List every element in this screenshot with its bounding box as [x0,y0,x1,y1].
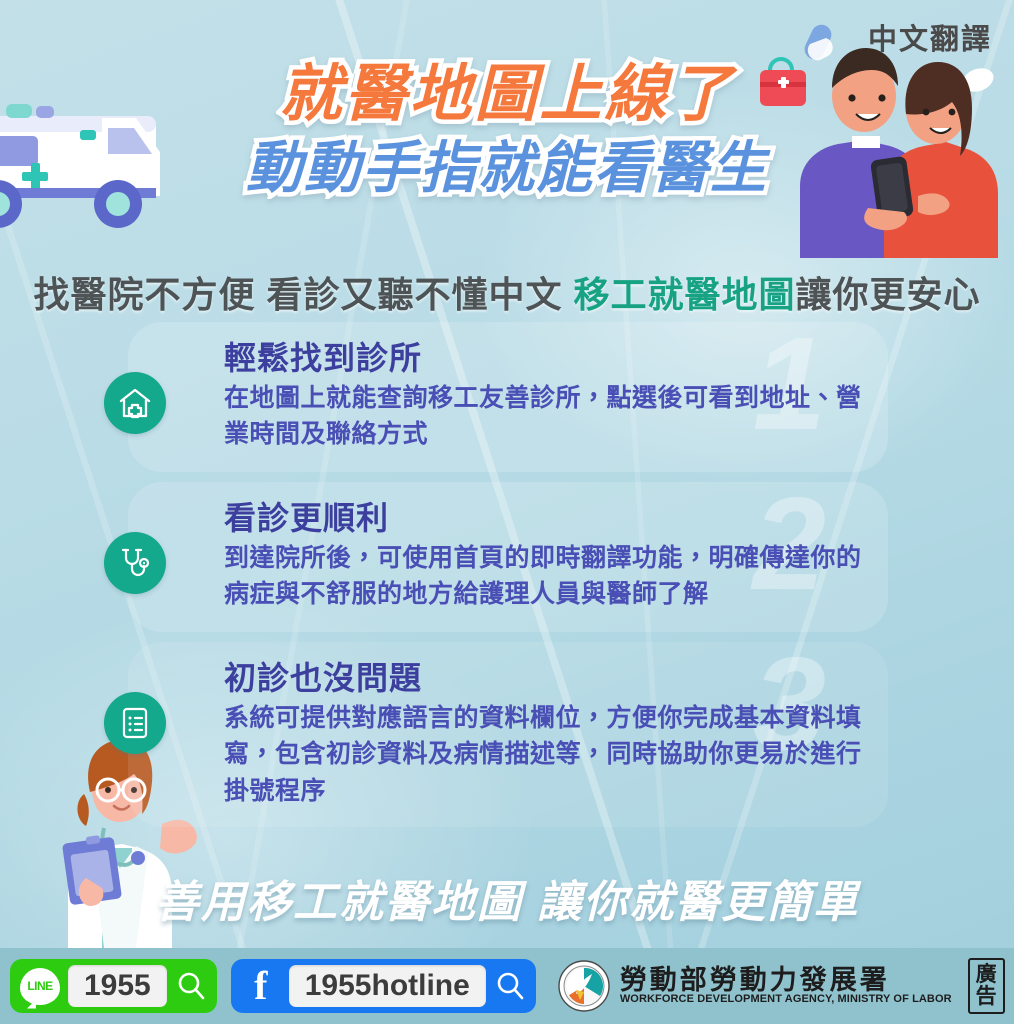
ad-badge: 廣告 [968,958,1005,1014]
page-title-line1: 就醫地圖上線了 [0,62,1014,127]
line-contact-chip[interactable]: LINE 1955 [10,959,217,1013]
agency-name-block: 勞動部勞動力發展署 WORKFORCE DEVELOPMENT AGENCY, … [620,966,952,1006]
line-id-field[interactable]: 1955 [68,965,167,1007]
page-title-line2: 動動手指就能看醫生 [0,139,1014,198]
feature-body: 系統可提供對應語言的資料欄位，方便你完成基本資料填寫，包含初診資料及病情描述等，… [224,700,864,809]
poster-root: 中文翻譯 就醫地圖上線了 動動手指就能看醫生 找醫院不方便 看診又聽不懂中文 移… [0,0,1014,1024]
facebook-contact-chip[interactable]: f 1955hotline [231,959,536,1013]
hero-section: 就醫地圖上線了 動動手指就能看醫生 [0,62,1014,198]
feature-title: 初診也沒問題 [224,658,864,698]
footer-bar: LINE 1955 f 1955hotline [0,948,1014,1024]
language-badge: 中文翻譯 [868,16,992,58]
agency-branding: 勞動部勞動力發展署 WORKFORCE DEVELOPMENT AGENCY, … [558,958,1005,1014]
feature-card-list: 1 輕鬆找到診所 在地圖上就能查詢移工友善診所，點選後可看到地址、營業時間及聯絡… [128,322,888,837]
agency-seal-icon [558,960,610,1012]
subtitle-part2: 讓你更安心 [796,274,981,315]
facebook-logo-label: f [254,967,267,1005]
feature-body: 在地圖上就能查詢移工友善診所，點選後可看到地址、營業時間及聯絡方式 [224,380,864,453]
capsule-pill [801,21,834,62]
subtitle-accent: 移工就醫地圖 [573,274,795,315]
form-document-icon [104,692,166,754]
clinic-house-icon [104,372,166,434]
search-icon[interactable] [494,970,526,1002]
feature-card: 1 輕鬆找到診所 在地圖上就能查詢移工友善診所，點選後可看到地址、營業時間及聯絡… [128,322,888,472]
feature-card: 3 初診也沒問題 系統可提供對應語言的資料欄位，方便你完成基本資料填寫，包含初診… [128,642,888,827]
line-logo-label: LINE [27,979,52,993]
subtitle-part1: 找醫院不方便 看診又聽不懂中文 [33,274,573,315]
agency-name-en: WORKFORCE DEVELOPMENT AGENCY, MINISTRY O… [620,994,952,1006]
stethoscope-icon [104,532,166,594]
agency-name-zh: 勞動部勞動力發展署 [620,966,952,994]
closing-slogan: 善用移工就醫地圖 讓你就醫更簡單 [0,866,1014,930]
facebook-icon: f [241,967,281,1005]
feature-title: 看診更順利 [224,498,864,538]
feature-card: 2 看診更順利 到達院所後，可使用首頁的即時翻譯功能，明確傳達你的病症與不舒服的… [128,482,888,632]
feature-body: 到達院所後，可使用首頁的即時翻譯功能，明確傳達你的病症與不舒服的地方給護理人員與… [224,540,864,613]
facebook-page-field[interactable]: 1955hotline [289,965,486,1007]
subtitle: 找醫院不方便 看診又聽不懂中文 移工就醫地圖讓你更安心 [0,266,1014,318]
feature-title: 輕鬆找到診所 [224,338,864,378]
line-icon: LINE [20,967,60,1005]
search-icon[interactable] [175,970,207,1002]
